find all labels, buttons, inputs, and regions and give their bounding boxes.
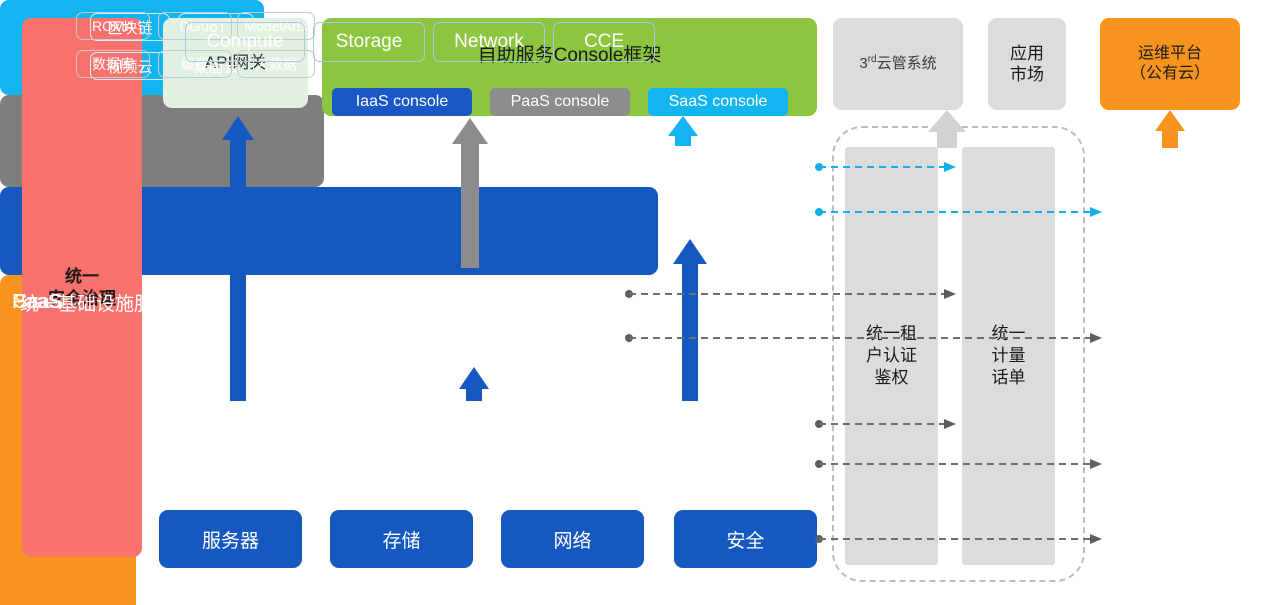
iaas-console-badge[interactable]: IaaS console xyxy=(332,88,472,116)
third-party-cloud-mgmt-box: 3rd云管系统 xyxy=(833,18,963,110)
app-market-line2: 市场 xyxy=(1010,64,1044,85)
metering-line1: 统一 xyxy=(992,323,1026,345)
metering-line3: 话单 xyxy=(992,367,1026,389)
third-cloud-suffix: 云管系统 xyxy=(877,55,937,72)
unified-metering-column: 统一 计量 话单 xyxy=(962,147,1055,565)
arrow-saas-to-saas-console xyxy=(668,116,698,146)
hardware-storage-box[interactable]: 存储 xyxy=(330,510,473,568)
arrow-infra-to-paas xyxy=(459,367,489,401)
unified-infrastructure-box: 统一基础设施服务 Compute Storage Network CCE xyxy=(0,187,658,275)
ops-top-line1: 运维平台 xyxy=(1130,44,1210,64)
unified-tenant-auth-column: 统一租 户认证 鉴权 xyxy=(845,147,938,565)
hardware-network-box[interactable]: 网络 xyxy=(501,510,644,568)
paas-console-badge[interactable]: PaaS console xyxy=(490,88,630,116)
ops-platform-public-cloud-box: 运维平台 （公有云） xyxy=(1100,18,1240,110)
infra-service-network[interactable]: Network xyxy=(433,22,545,62)
metering-line2: 计量 xyxy=(992,345,1026,367)
ops-top-line2: （公有云） xyxy=(1130,64,1210,84)
hardware-security-box[interactable]: 安全 xyxy=(674,510,817,568)
third-cloud-prefix: 3 xyxy=(859,55,867,72)
auth-line2: 户认证 xyxy=(866,345,917,367)
arrow-ops-panel-to-ops-platform xyxy=(1155,110,1185,148)
third-cloud-superscript: rd xyxy=(868,54,877,65)
architecture-diagram: 统一 安全治理 API网关 自助服务Console框架 IaaS console… xyxy=(0,0,1265,605)
infra-service-storage[interactable]: Storage xyxy=(313,22,425,62)
auth-line1: 统一租 xyxy=(866,323,917,345)
saas-console-badge[interactable]: SaaS console xyxy=(648,88,788,116)
app-market-line1: 应用 xyxy=(1010,43,1044,64)
app-market-box: 应用 市场 xyxy=(988,18,1066,110)
hardware-server-box[interactable]: 服务器 xyxy=(159,510,302,568)
infra-service-cce[interactable]: CCE xyxy=(553,22,655,62)
arrow-infra-to-saas xyxy=(673,239,707,401)
infra-service-compute[interactable]: Compute xyxy=(185,22,305,62)
auth-line3: 鉴权 xyxy=(866,367,917,389)
unified-infrastructure-label: 统一基础设施服务 xyxy=(20,0,172,605)
